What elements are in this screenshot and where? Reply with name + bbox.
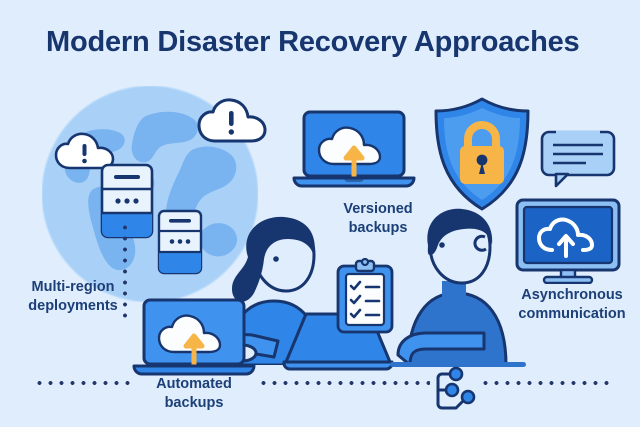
laptop-cloud-upload-icon xyxy=(132,298,256,382)
chat-bubble-icon xyxy=(540,130,616,188)
clipboard-checklist-icon xyxy=(336,258,394,334)
infographic-canvas: Modern Disaster Recovery Approaches xyxy=(0,0,640,427)
shield-lock-icon xyxy=(432,96,532,212)
laptop-cloud-upload-icon xyxy=(292,110,416,194)
cloud-alert-icon xyxy=(196,98,268,146)
branch-nodes-icon xyxy=(432,366,480,416)
connector-dotted-horizontal xyxy=(34,380,132,386)
connector-dotted-horizontal xyxy=(480,380,612,386)
label-multi-region-deployments: Multi-region deployments xyxy=(14,278,132,315)
monitor-cloud-upload-icon xyxy=(514,198,622,284)
page-title: Modern Disaster Recovery Approaches xyxy=(46,26,579,59)
person-man-icon xyxy=(390,205,526,365)
server-rack-icon xyxy=(157,209,203,275)
connector-dotted-horizontal xyxy=(258,380,430,386)
label-automated-backups: Automated backups xyxy=(128,375,260,412)
